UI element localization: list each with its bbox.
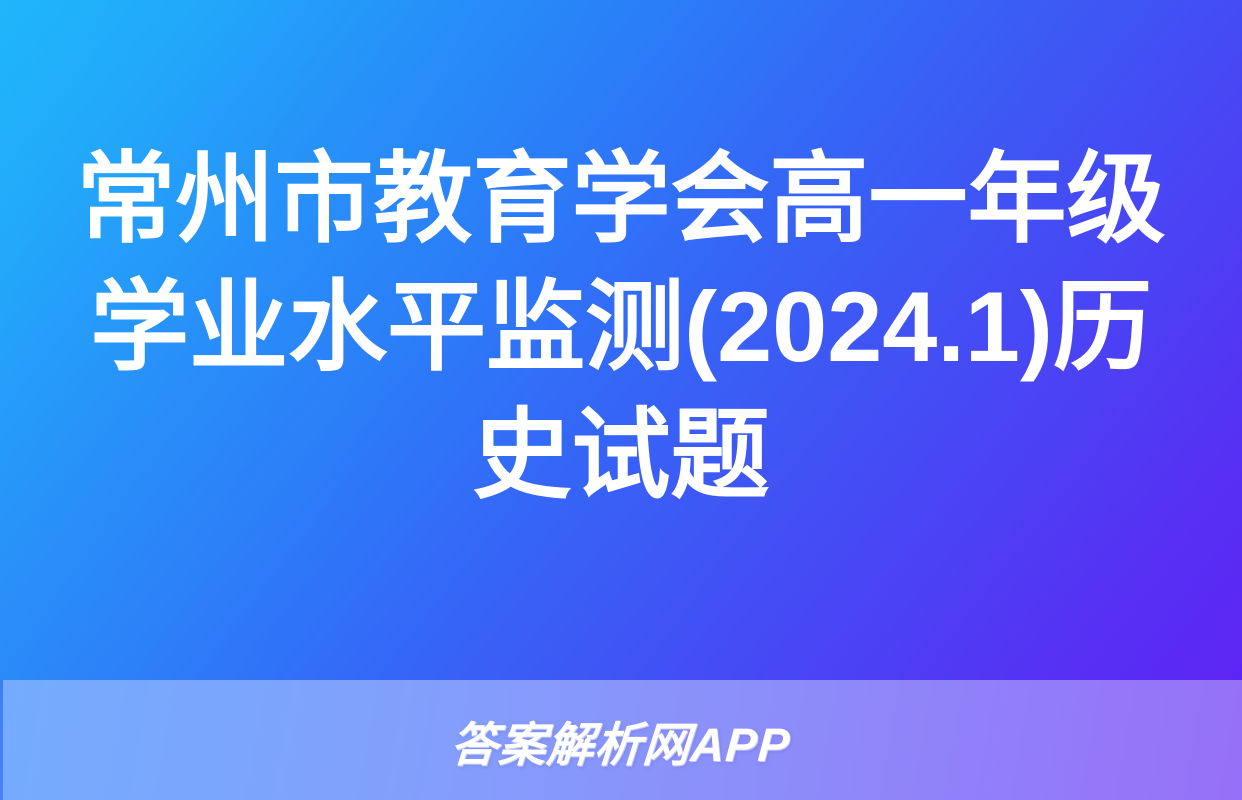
exam-title-line-2: 学业水平监测(2024.1)历 [90,263,1152,391]
exam-title-line-1: 常州市教育学会高一年级 [77,135,1166,263]
watermark-container: 答案解析网APP [0,680,1242,800]
exam-title-block: 常州市教育学会高一年级 学业水平监测(2024.1)历 史试题 [0,0,1242,680]
exam-title-line-3: 史试题 [473,391,770,519]
app-watermark-label: 答案解析网APP [449,706,793,775]
exam-cover-banner: 常州市教育学会高一年级 学业水平监测(2024.1)历 史试题 答案解析网APP [0,0,1242,800]
